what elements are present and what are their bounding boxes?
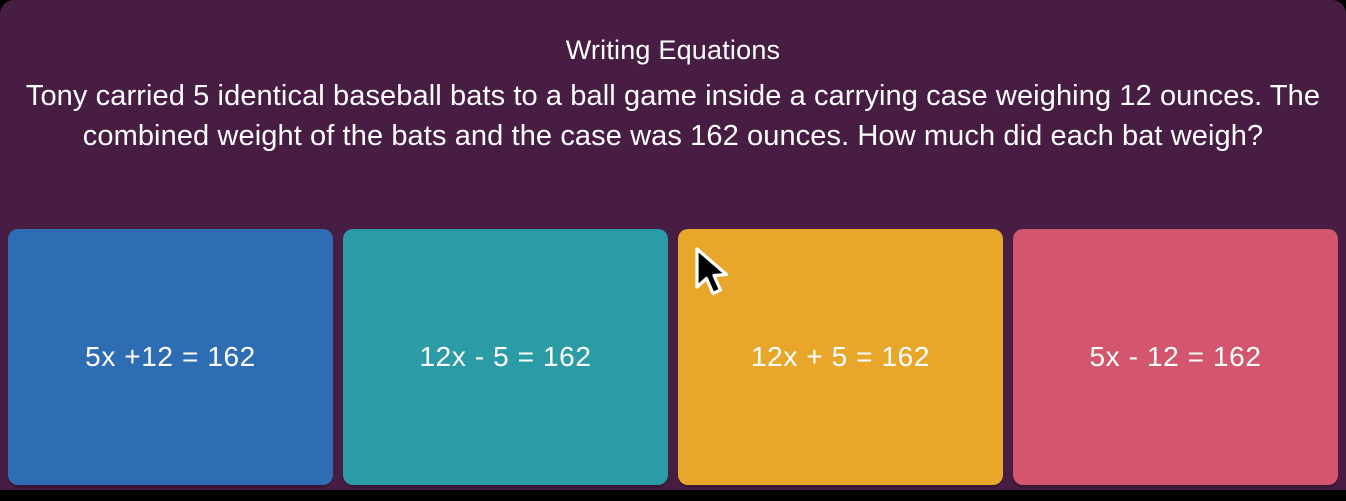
bottom-strip <box>0 490 1346 501</box>
answer-label-1: 5x +12 = 162 <box>85 341 256 373</box>
answer-label-3: 12x + 5 = 162 <box>751 341 930 373</box>
question-card: Writing Equations Tony carried 5 identic… <box>0 0 1346 490</box>
answer-options-row: 5x +12 = 162 12x - 5 = 162 12x + 5 = 162… <box>0 229 1346 485</box>
answer-tile-4[interactable]: 5x - 12 = 162 <box>1013 229 1338 485</box>
answer-tile-3[interactable]: 12x + 5 = 162 <box>678 229 1003 485</box>
quiz-screen: Writing Equations Tony carried 5 identic… <box>0 0 1346 501</box>
question-block: Writing Equations Tony carried 5 identic… <box>0 0 1346 162</box>
answer-tile-1[interactable]: 5x +12 = 162 <box>8 229 333 485</box>
question-text: Tony carried 5 identical baseball bats t… <box>14 76 1332 156</box>
answer-label-4: 5x - 12 = 162 <box>1089 341 1261 373</box>
question-title: Writing Equations <box>14 34 1332 66</box>
answer-label-2: 12x - 5 = 162 <box>419 341 591 373</box>
answer-tile-2[interactable]: 12x - 5 = 162 <box>343 229 668 485</box>
